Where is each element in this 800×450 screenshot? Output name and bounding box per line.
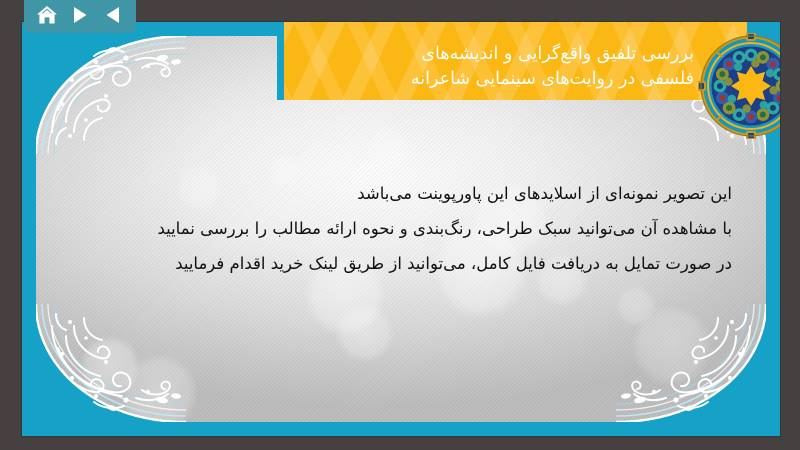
house-icon [36, 5, 58, 25]
slide-navigation-bar [24, 0, 136, 33]
previous-slide-button[interactable] [100, 3, 126, 27]
bokeh-circle [632, 306, 712, 386]
next-slide-button[interactable] [67, 3, 93, 27]
persian-medallion-icon [698, 33, 780, 139]
body-line: این تصویر نمونه‌ای از اسلایدهای این پاور… [70, 176, 732, 211]
slide-frame: این تصویر نمونه‌ای از اسلایدهای این پاور… [22, 22, 780, 436]
bokeh-circle [80, 336, 140, 396]
slide-viewer: این تصویر نمونه‌ای از اسلایدهای این پاور… [0, 0, 800, 450]
arabesque-corner-icon [36, 304, 186, 422]
slide-body-text: این تصویر نمونه‌ای از اسلایدهای این پاور… [70, 176, 732, 281]
slide-title: بررسی تلفیق واقع‌گرایی و اندیشه‌های فلسف… [38, 42, 694, 92]
body-line: با مشاهده آن می‌توانید سبک طراحی، رنگ‌بن… [70, 211, 732, 246]
home-button[interactable] [34, 3, 60, 27]
bokeh-circle [366, 126, 410, 170]
title-line-1: بررسی تلفیق واقع‌گرایی و اندیشه‌های [38, 42, 694, 67]
bokeh-circle [120, 354, 198, 422]
bokeh-circle [616, 286, 656, 326]
body-line: در صورت تمایل به دریافت فایل کامل، می‌تو… [70, 246, 732, 281]
left-triangle-icon [105, 6, 121, 24]
arabesque-corner-icon [616, 304, 766, 422]
right-triangle-icon [72, 6, 88, 24]
title-line-2: فلسفی در روایت‌های سینمایی شاعرانه [38, 67, 694, 92]
bokeh-circle [336, 304, 394, 362]
